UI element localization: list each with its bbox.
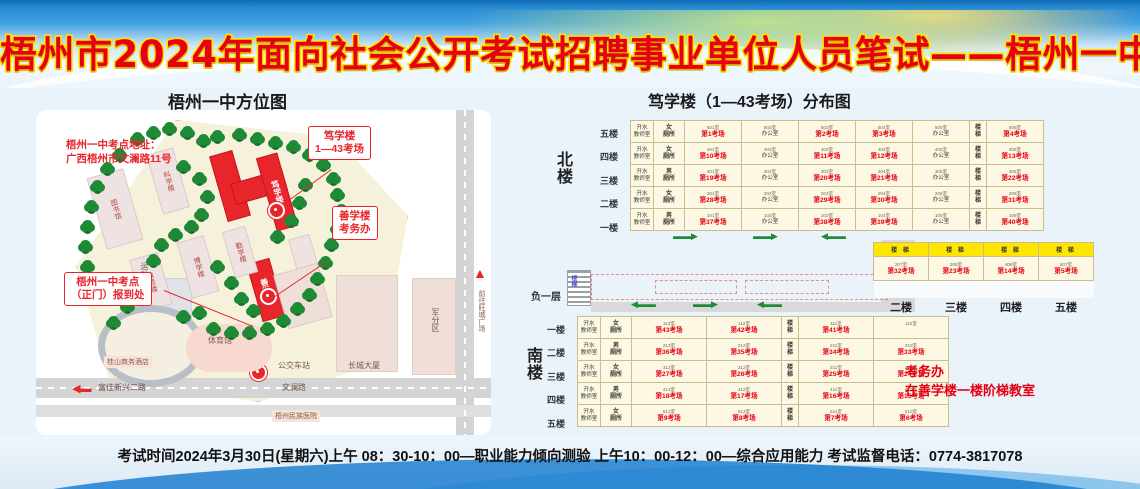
toilet-label: 女厕所	[654, 147, 684, 161]
stair-cell: 楼梯	[782, 339, 799, 361]
arrow-to-wangcheng-icon: ▲	[473, 268, 487, 278]
north-building-label: 北 楼	[557, 152, 573, 186]
exam-room-label: 第41考场	[799, 327, 873, 335]
exam-room-cell: 406室第13考场	[987, 143, 1044, 165]
exam-room-label: 第29考场	[799, 197, 855, 205]
stair-header-cell: 楼 梯	[874, 243, 929, 257]
exam-room-cell: 111室第41考场	[799, 317, 874, 339]
office-label: 办公室	[742, 153, 798, 160]
spacer-cell	[1039, 281, 1094, 299]
mid-stair-spacer-row	[874, 281, 1094, 299]
water-room-label: 开水教师室	[631, 191, 653, 204]
exam-room-label: 第10考场	[685, 153, 741, 161]
exam-room-cell: 113室第43考场	[632, 317, 707, 339]
exam-room-label: 第26考场	[707, 371, 781, 379]
mid-floor-label: 三楼	[929, 298, 984, 316]
water-room-cell: 开水教师室	[578, 361, 601, 383]
water-room-cell: 开水教师室	[578, 405, 601, 427]
water-room-label: 开水教师室	[631, 169, 653, 182]
exam-room-label: 第18考场	[632, 393, 706, 401]
exam-room-cell: 308室第23考场	[929, 257, 984, 281]
exam-room-cell: 413室第18考场	[632, 383, 707, 405]
office-label: 办公室	[913, 219, 969, 226]
label-guishan-hotel: 桂山商务酒店	[104, 356, 152, 368]
label-gym: 体育馆	[208, 335, 232, 346]
mid-stair-footer-row: 二楼三楼四楼五楼	[874, 298, 1094, 316]
stair-cell: 楼梯	[970, 143, 987, 165]
office-cell: 202室办公室	[742, 187, 799, 209]
exam-room-cell: 411室第16考场	[799, 383, 874, 405]
exam-room-label: 第3考场	[856, 131, 912, 139]
water-room-cell: 开水教师室	[631, 143, 654, 165]
toilet-label: 男厕所	[654, 169, 684, 183]
office-label: 办公室	[913, 197, 969, 204]
office-cell: 105室办公室	[913, 209, 970, 231]
water-room-cell: 开水教师室	[631, 121, 654, 143]
water-room-label: 开水教师室	[578, 365, 600, 378]
floor-label: 二楼	[547, 346, 565, 359]
toilet-label: 女厕所	[654, 125, 684, 139]
water-room-label: 开水教师室	[578, 343, 600, 356]
exam-room-cell: 507室第5考场	[1039, 257, 1094, 281]
floor-label: 四楼	[600, 150, 618, 163]
exam-room-cell: 203室第29考场	[799, 187, 856, 209]
water-room-cell: 开水教师室	[578, 339, 601, 361]
office-label: 办公室	[913, 131, 969, 138]
stair-cell: 楼梯	[970, 165, 987, 187]
pin-dxl	[268, 202, 285, 219]
exam-room-label: 第12考场	[856, 153, 912, 161]
floor-label: 四楼	[547, 393, 565, 406]
exam-room-cell: 304室第21考场	[856, 165, 913, 187]
corridor-dash-b	[745, 280, 829, 294]
spacer-cell	[929, 281, 984, 299]
floor-label: 五楼	[600, 127, 618, 140]
stair-cell: 楼梯	[782, 383, 799, 405]
exam-room-label: 第40考场	[987, 219, 1043, 227]
floor-row: 开水教师室女厕所401室第10考场402室办公室403室第11考场404室第12…	[631, 143, 1044, 165]
water-room-label: 开水教师室	[631, 125, 653, 138]
north-arrow-1-icon: ▬▬▶	[673, 232, 698, 241]
arrow-west-icon: ◀▬	[72, 384, 91, 394]
office-cell: 405室办公室	[913, 143, 970, 165]
footer: 考试时间2024年3月30日(星期六)上午 08：30-10：00—职业能力倾向…	[0, 437, 1140, 489]
office-cell: 402室办公室	[742, 143, 799, 165]
exam-room-cell: 504室第3考场	[856, 121, 913, 143]
floor-label: 五楼	[547, 417, 565, 430]
water-room-label: 开水教师室	[578, 321, 600, 334]
exam-room-label: 第30考场	[856, 197, 912, 205]
water-room-label: 开水教师室	[578, 409, 600, 422]
north-arrow-2-icon: ▬▬▶	[753, 232, 778, 241]
exam-room-label: 第43考场	[632, 327, 706, 335]
exam-room-label: 第34考场	[799, 349, 873, 357]
floor-row: 开水教师室女厕所313室第27考场312室第26考场楼梯311室第25考场310…	[578, 361, 949, 383]
floor-panel-title: 笃学楼（1—43考场）分布图	[648, 88, 851, 112]
floor-row: 开水教师室女厕所513室第9考场512室第8考场楼梯511室第7考场510室第6…	[578, 405, 949, 427]
mid-floor-label: 二楼	[874, 298, 929, 316]
exam-room-cell: 101室第37考场	[685, 209, 742, 231]
stair-cell: 楼梯	[782, 317, 799, 339]
floor-row: 开水教师室女厕所201室第28考场202室办公室203室第29考场204室第30…	[631, 187, 1044, 209]
exam-room-label: 第4考场	[987, 131, 1043, 139]
floor-row: 开水教师室男厕所101室第37考场102室办公室103室第38考场104室第39…	[631, 209, 1044, 231]
south-building-grid: 开水教师室女厕所113室第43考场112室第42考场楼梯111室第41考场110…	[577, 316, 949, 427]
office-cell: 305室办公室	[913, 165, 970, 187]
office-label: 办公室	[742, 197, 798, 204]
south-building-label: 南 楼	[527, 348, 543, 382]
exam-room-cell: 213室第36考场	[632, 339, 707, 361]
exam-room-cell: 207室第32考场	[874, 257, 929, 281]
exam-room-label: 第6考场	[874, 415, 948, 423]
toilet-cell: 女厕所	[654, 187, 685, 209]
floor-diagram: 北 楼 五楼四楼三楼二楼一楼 开水教师室女厕所501室第1考场502室办公室50…	[505, 110, 1115, 440]
exam-room-label: 第7考场	[799, 415, 873, 423]
exam-room-cell: 503室第2考场	[799, 121, 856, 143]
stair-header-cell: 楼 梯	[929, 243, 984, 257]
block-changcheng	[336, 275, 398, 372]
exam-room-cell: 312室第26考场	[707, 361, 782, 383]
label-to-wangcheng: 前往旺城广场	[476, 290, 486, 332]
water-room-cell: 开水教师室	[631, 209, 654, 231]
exam-room-cell: 204室第30考场	[856, 187, 913, 209]
exam-room-label: 第19考场	[685, 175, 741, 183]
exam-room-cell: 513室第9考场	[632, 405, 707, 427]
water-room-label: 开水教师室	[578, 387, 600, 400]
office-cell: 110室	[874, 317, 949, 339]
stair-header-cell: 楼 梯	[1039, 243, 1094, 257]
campus-map: 图书馆 科学楼 慎思楼 博学楼 笃学楼 善学楼 勤学楼 运动场 体育馆	[36, 110, 491, 435]
toilet-cell: 女厕所	[654, 143, 685, 165]
exam-room-label: 第31考场	[987, 197, 1043, 205]
exam-room-label: 第27考场	[632, 371, 706, 379]
exam-room-cell: 311室第25考场	[799, 361, 874, 383]
stair-cell: 楼梯	[782, 361, 799, 383]
toilet-cell: 男厕所	[654, 209, 685, 231]
exam-room-cell: 112室第42考场	[707, 317, 782, 339]
label-bus-station: 公交车站	[278, 360, 310, 371]
water-room-cell: 开水教师室	[631, 165, 654, 187]
exam-room-cell: 313室第27考场	[632, 361, 707, 383]
spacer-cell	[984, 281, 1039, 299]
floor-label: 三楼	[547, 370, 565, 383]
exam-room-cell: 401室第10考场	[685, 143, 742, 165]
stair-cell: 楼梯	[782, 405, 799, 427]
corridor-dash-outer	[591, 274, 888, 300]
exam-room-label: 第37考场	[685, 219, 741, 227]
corridor-arrow-1-icon: ◀▬▬	[631, 300, 656, 309]
exam-room-label: 第11考场	[799, 153, 855, 161]
toilet-label: 女厕所	[601, 409, 631, 423]
office-cell: 502室办公室	[742, 121, 799, 143]
exam-room-label: 第28考场	[685, 197, 741, 205]
callout-gate: 梧州一中考点 （正门）报到处	[64, 272, 152, 306]
floor-label: 二楼	[600, 197, 618, 210]
spacer-cell	[874, 281, 929, 299]
exam-room-label: 第16考场	[799, 393, 873, 401]
mid-floor-label: 五楼	[1039, 298, 1094, 316]
floor-row: 开水教师室男厕所413室第18考场412室第17考场楼梯411室第16考场410…	[578, 383, 949, 405]
corridor-dash-a	[655, 280, 737, 294]
mid-stair-header-row: 楼 梯楼 梯楼 梯楼 梯	[874, 243, 1094, 257]
floor-label: 一楼	[547, 323, 565, 336]
floor-row: 开水教师室女厕所501室第1考场502室办公室503室第2考场504室第3考场5…	[631, 121, 1044, 143]
stair-cell: 楼梯	[970, 187, 987, 209]
stair-cell: 楼梯	[970, 209, 987, 231]
exam-room-label: 第22考场	[987, 175, 1043, 183]
exam-room-label: 第20考场	[799, 175, 855, 183]
exam-room-label	[874, 327, 948, 335]
exam-room-label: 第23考场	[929, 268, 983, 276]
label-wenlan-road: 文澜路	[282, 382, 306, 393]
exam-room-cell: 303室第20考场	[799, 165, 856, 187]
exam-room-cell: 212室第35考场	[707, 339, 782, 361]
banner-top-strip	[0, 0, 1140, 10]
callout-dxl: 笃学楼 1—43考场	[308, 126, 371, 160]
basement-stair-text: 楼梯	[569, 275, 578, 287]
callout-address: 梧州一中考点地址： 广西梧州市文澜路11号	[66, 138, 172, 166]
exam-room-cell: 201室第28考场	[685, 187, 742, 209]
exam-room-label: 第9考场	[632, 415, 706, 423]
mid-stair-room-row: 207室第32考场308室第23考场408室第14考场507室第5考场	[874, 257, 1094, 281]
toilet-cell: 女厕所	[601, 405, 632, 427]
toilet-label: 女厕所	[654, 191, 684, 205]
page-title: 梧州市2024年面向社会公开考试招聘事业单位人员笔试——梧州一中高中部考点	[0, 24, 1140, 78]
callout-sxl: 善学楼 考务办	[332, 206, 378, 240]
basement-stair-icon: 楼梯	[567, 270, 591, 306]
exam-room-cell: 306室第22考场	[987, 165, 1044, 187]
toilet-cell: 女厕所	[654, 121, 685, 143]
road-lower	[36, 405, 491, 417]
water-room-cell: 开水教师室	[631, 187, 654, 209]
toilet-cell: 男厕所	[601, 339, 632, 361]
exam-room-cell: 511室第7考场	[799, 405, 874, 427]
mid-stair-grid: 楼 梯楼 梯楼 梯楼 梯207室第32考场308室第23考场408室第14考场5…	[873, 242, 1094, 316]
label-fujia-road: 富佳新兴二路	[98, 382, 146, 393]
exam-room-label: 第5考场	[1039, 268, 1093, 276]
toilet-cell: 女厕所	[601, 317, 632, 339]
exam-room-label: 第39考场	[856, 219, 912, 227]
label-hospital: 梧州民族医院	[272, 410, 320, 422]
office-label: 办公室	[913, 153, 969, 160]
exam-room-label: 第8考场	[707, 415, 781, 423]
exam-time-note: 考试时间2024年3月30日(星期六)上午 08：30-10：00—职业能力倾向…	[0, 445, 1140, 466]
exam-room-cell: 403室第11考场	[799, 143, 856, 165]
exam-room-cell: 404室第12考场	[856, 143, 913, 165]
toilet-label: 男厕所	[654, 213, 684, 227]
corridor-arrow-3-icon: ◀▬▬	[757, 300, 782, 309]
floor-label: 三楼	[600, 174, 618, 187]
exam-room-label: 第35考场	[707, 349, 781, 357]
corridor-arrow-2-icon: ▬▬▶	[693, 300, 718, 309]
exam-room-label: 第2考场	[799, 131, 855, 139]
water-room-cell: 开水教师室	[578, 383, 601, 405]
label-junfenqu: 军分区	[430, 308, 441, 332]
exam-room-label: 第42考场	[707, 327, 781, 335]
office-note: 考务办 在善学楼一楼阶梯教室	[905, 362, 1035, 400]
exam-room-cell: 106室第40考场	[987, 209, 1044, 231]
exam-room-cell: 301室第19考场	[685, 165, 742, 187]
basement-label: 负一层	[531, 288, 561, 303]
floor-row: 开水教师室男厕所213室第36考场212室第35考场楼梯211室第34考场210…	[578, 339, 949, 361]
poster-root: 梧州市2024年面向社会公开考试招聘事业单位人员笔试——梧州一中高中部考点 梧州…	[0, 0, 1140, 489]
exam-room-label: 第21考场	[856, 175, 912, 183]
office-label: 办公室	[742, 131, 798, 138]
toilet-label: 男厕所	[601, 343, 631, 357]
floor-row: 开水教师室女厕所113室第43考场112室第42考场楼梯111室第41考场110…	[578, 317, 949, 339]
toilet-cell: 女厕所	[601, 361, 632, 383]
toilet-cell: 男厕所	[654, 165, 685, 187]
exam-room-label: 第13考场	[987, 153, 1043, 161]
exam-room-label: 第17考场	[707, 393, 781, 401]
office-label: 办公室	[742, 219, 798, 226]
exam-room-cell: 206室第31考场	[987, 187, 1044, 209]
mid-floor-label: 四楼	[984, 298, 1039, 316]
toilet-label: 女厕所	[601, 365, 631, 379]
toilet-label: 女厕所	[601, 321, 631, 335]
office-cell: 205室办公室	[913, 187, 970, 209]
exam-room-cell: 408室第14考场	[984, 257, 1039, 281]
water-room-label: 开水教师室	[631, 147, 653, 160]
toilet-cell: 男厕所	[601, 383, 632, 405]
stair-cell: 楼梯	[970, 121, 987, 143]
exam-room-cell: 211室第34考场	[799, 339, 874, 361]
exam-room-label: 第38考场	[799, 219, 855, 227]
exam-room-cell: 501室第1考场	[685, 121, 742, 143]
exam-room-label: 第14考场	[984, 268, 1038, 276]
exam-room-cell: 510室第6考场	[874, 405, 949, 427]
office-cell: 102室办公室	[742, 209, 799, 231]
office-cell: 505室办公室	[913, 121, 970, 143]
office-cell: 302室办公室	[742, 165, 799, 187]
toilet-label: 男厕所	[601, 387, 631, 401]
exam-room-cell: 103室第38考场	[799, 209, 856, 231]
exam-room-label: 第32考场	[874, 268, 928, 276]
exam-room-cell: 412室第17考场	[707, 383, 782, 405]
label-changcheng: 长城大厦	[348, 360, 380, 371]
stair-header-cell: 楼 梯	[984, 243, 1039, 257]
exam-room-cell: 512室第8考场	[707, 405, 782, 427]
office-label: 办公室	[913, 175, 969, 182]
exam-room-label: 第33考场	[874, 349, 948, 357]
exam-room-cell: 506室第4考场	[987, 121, 1044, 143]
road-centerline-v	[464, 110, 466, 435]
floor-label: 一楼	[600, 221, 618, 234]
office-label: 办公室	[742, 175, 798, 182]
exam-room-cell: 104室第39考场	[856, 209, 913, 231]
water-room-label: 开水教师室	[631, 213, 653, 226]
north-arrow-3-icon: ◀▬▬	[821, 232, 846, 241]
exam-room-label: 第36考场	[632, 349, 706, 357]
water-room-cell: 开水教师室	[578, 317, 601, 339]
floor-row: 开水教师室男厕所301室第19考场302室办公室303室第20考场304室第21…	[631, 165, 1044, 187]
exam-room-label: 第25考场	[799, 371, 873, 379]
banner: 梧州市2024年面向社会公开考试招聘事业单位人员笔试——梧州一中高中部考点	[0, 0, 1140, 88]
exam-room-label: 第1考场	[685, 131, 741, 139]
north-building-grid: 开水教师室女厕所501室第1考场502室办公室503室第2考场504室第3考场5…	[630, 120, 1044, 231]
exam-room-cell: 210室第33考场	[874, 339, 949, 361]
